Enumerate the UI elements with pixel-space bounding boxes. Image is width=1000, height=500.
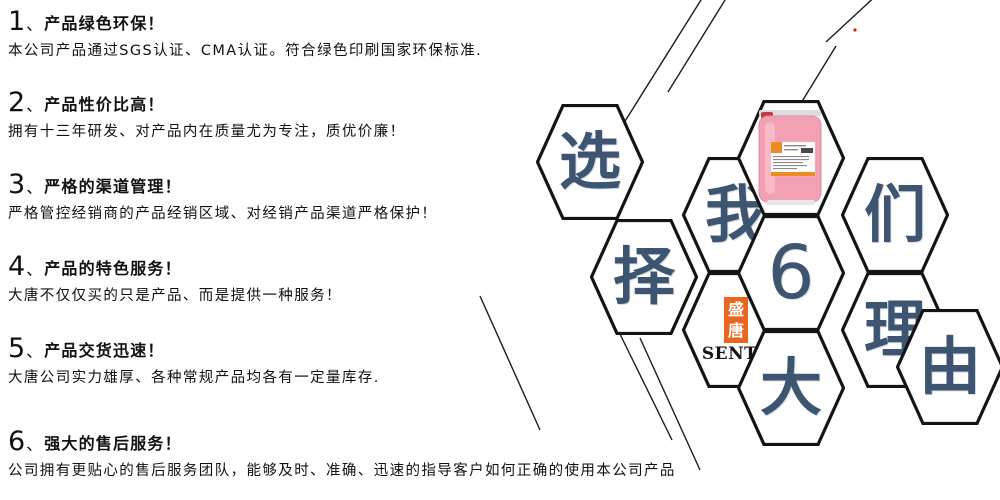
hex-cell-six: 6 bbox=[737, 215, 845, 331]
hex-glyph-six: 6 bbox=[737, 215, 845, 331]
hex-glyph-da: 大 bbox=[737, 330, 845, 446]
jerrycan-icon bbox=[755, 108, 827, 208]
hex-glyph-you: 由 bbox=[896, 309, 1000, 425]
hex-cell-xuan: 选 bbox=[536, 104, 644, 220]
hex-cell-product bbox=[737, 100, 845, 216]
hex-cell-you: 由 bbox=[896, 309, 1000, 425]
hex-glyph-men: 们 bbox=[841, 157, 949, 273]
hex-glyph-xuan: 选 bbox=[536, 104, 644, 220]
hex-cell-men: 们 bbox=[841, 157, 949, 273]
hexagon-cluster: 选 择 我 盛 唐 SENTA bbox=[0, 0, 1000, 500]
hex-cell-da: 大 bbox=[737, 330, 845, 446]
product-photo bbox=[737, 100, 845, 216]
poster-canvas: 1 、 产品绿色环保！ 本公司产品通过SGS认证、CMA认证。符合绿色印刷国家环… bbox=[0, 0, 1000, 500]
